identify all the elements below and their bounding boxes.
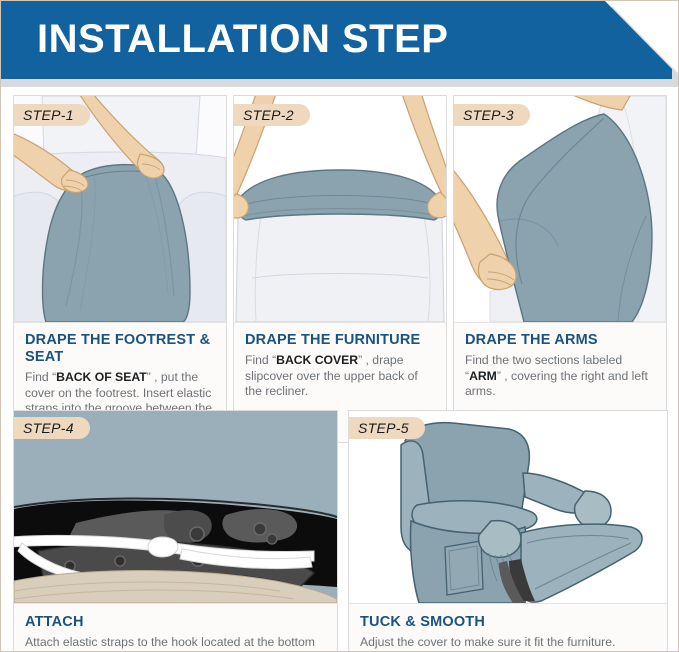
step-5-tag: STEP-5 xyxy=(349,417,425,439)
step-5-illustration: STEP-5 xyxy=(349,411,667,604)
step-2-body-strong: BACK COVER xyxy=(276,353,358,367)
page-title: INSTALLATION STEP xyxy=(37,13,448,65)
step-5-body: Adjust the cover to make sure it fit the… xyxy=(360,635,657,651)
step-5-title: TUCK & SMOOTH xyxy=(360,614,657,631)
step-3-body: Find the two sections labeled “ARM” , co… xyxy=(465,353,656,400)
step-5-body-post: Adjust the cover to make sure it fit the… xyxy=(360,635,615,649)
step-2-title: DRAPE THE FURNITURE xyxy=(245,332,436,349)
step-panel-3: STEP-3 DRAPE THE ARMS Find the two secti… xyxy=(453,95,667,443)
header-banner: INSTALLATION STEP xyxy=(1,1,679,87)
step-2-tag: STEP-2 xyxy=(234,104,310,126)
step-1-tag: STEP-1 xyxy=(14,104,90,126)
step-2-body-pre: Find “ xyxy=(245,353,276,367)
step-3-tag: STEP-3 xyxy=(454,104,530,126)
step-5-caption: TUCK & SMOOTH Adjust the cover to make s… xyxy=(349,604,667,652)
step-4-tag: STEP-4 xyxy=(14,417,90,439)
step-1-illustration: STEP-1 xyxy=(14,96,226,323)
step-4-illustration: STEP-4 xyxy=(14,411,337,604)
step-panel-5: STEP-5 TUCK & SMOOTH Adjust the cover to… xyxy=(348,410,668,652)
step-2-illustration: STEP-2 xyxy=(234,96,446,323)
step-4-body: Attach elastic straps to the hook locate… xyxy=(25,635,327,652)
step-1-body-strong: BACK OF SEAT xyxy=(56,370,147,384)
installation-guide-page: INSTALLATION STEP xyxy=(0,0,679,652)
step-3-title: DRAPE THE ARMS xyxy=(465,332,656,349)
steps-row-top: STEP-1 DRAPE THE FOOTREST & SEAT Find “B… xyxy=(13,95,668,443)
step-2-body: Find “BACK COVER” , drape slipcover over… xyxy=(245,353,436,400)
step-4-body-post: Attach elastic straps to the hook locate… xyxy=(25,635,315,652)
step-3-body-strong: ARM xyxy=(469,369,497,383)
steps-row-bottom: STEP-4 ATTACH Attach elastic straps to t… xyxy=(13,410,668,652)
step-4-title: ATTACH xyxy=(25,614,327,631)
step-4-caption: ATTACH Attach elastic straps to the hook… xyxy=(14,604,337,652)
step-panel-1: STEP-1 DRAPE THE FOOTREST & SEAT Find “B… xyxy=(13,95,227,443)
step-panel-2: STEP-2 DRAPE THE FURNITURE Find “BACK CO… xyxy=(233,95,447,443)
step-1-title: DRAPE THE FOOTREST & SEAT xyxy=(25,332,216,366)
step-3-illustration: STEP-3 xyxy=(454,96,666,323)
step-panel-4: STEP-4 ATTACH Attach elastic straps to t… xyxy=(13,410,338,652)
step-1-body-pre: Find “ xyxy=(25,370,56,384)
